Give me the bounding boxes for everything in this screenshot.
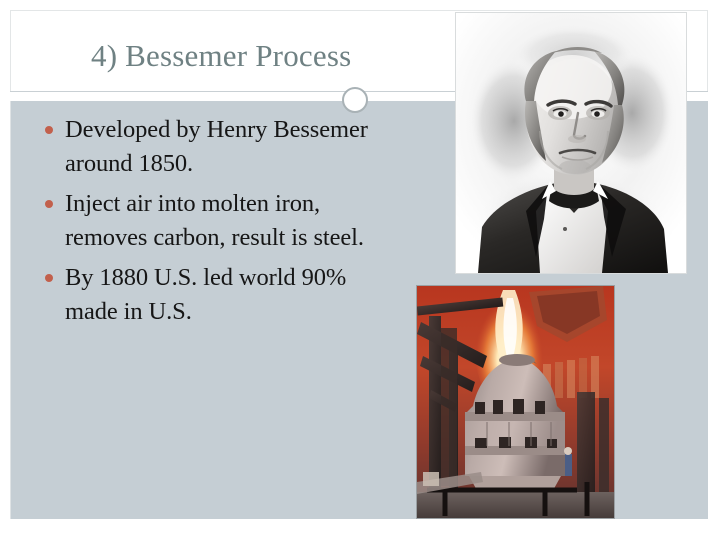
- bullet-dot-icon: [45, 274, 53, 282]
- header-divider-circle-icon: [342, 87, 368, 113]
- list-item: Inject air into molten iron, removes car…: [33, 187, 378, 255]
- list-item: Developed by Henry Bessemer around 1850.: [33, 113, 378, 181]
- bessemer-converter-image: [416, 285, 615, 519]
- list-item-text: By 1880 U.S. led world 90% made in U.S.: [65, 264, 346, 325]
- list-item: By 1880 U.S. led world 90% made in U.S.: [33, 261, 378, 329]
- slide: 4) Bessemer Process Developed by Henry B…: [10, 10, 708, 519]
- bullet-list: Developed by Henry Bessemer around 1850.…: [33, 113, 378, 335]
- page-title: 4) Bessemer Process: [91, 37, 351, 75]
- bullet-dot-icon: [45, 200, 53, 208]
- list-item-text: Inject air into molten iron, removes car…: [65, 190, 364, 251]
- henry-bessemer-portrait-image: [455, 12, 687, 274]
- list-item-text: Developed by Henry Bessemer around 1850.: [65, 116, 368, 177]
- bullet-dot-icon: [45, 126, 53, 134]
